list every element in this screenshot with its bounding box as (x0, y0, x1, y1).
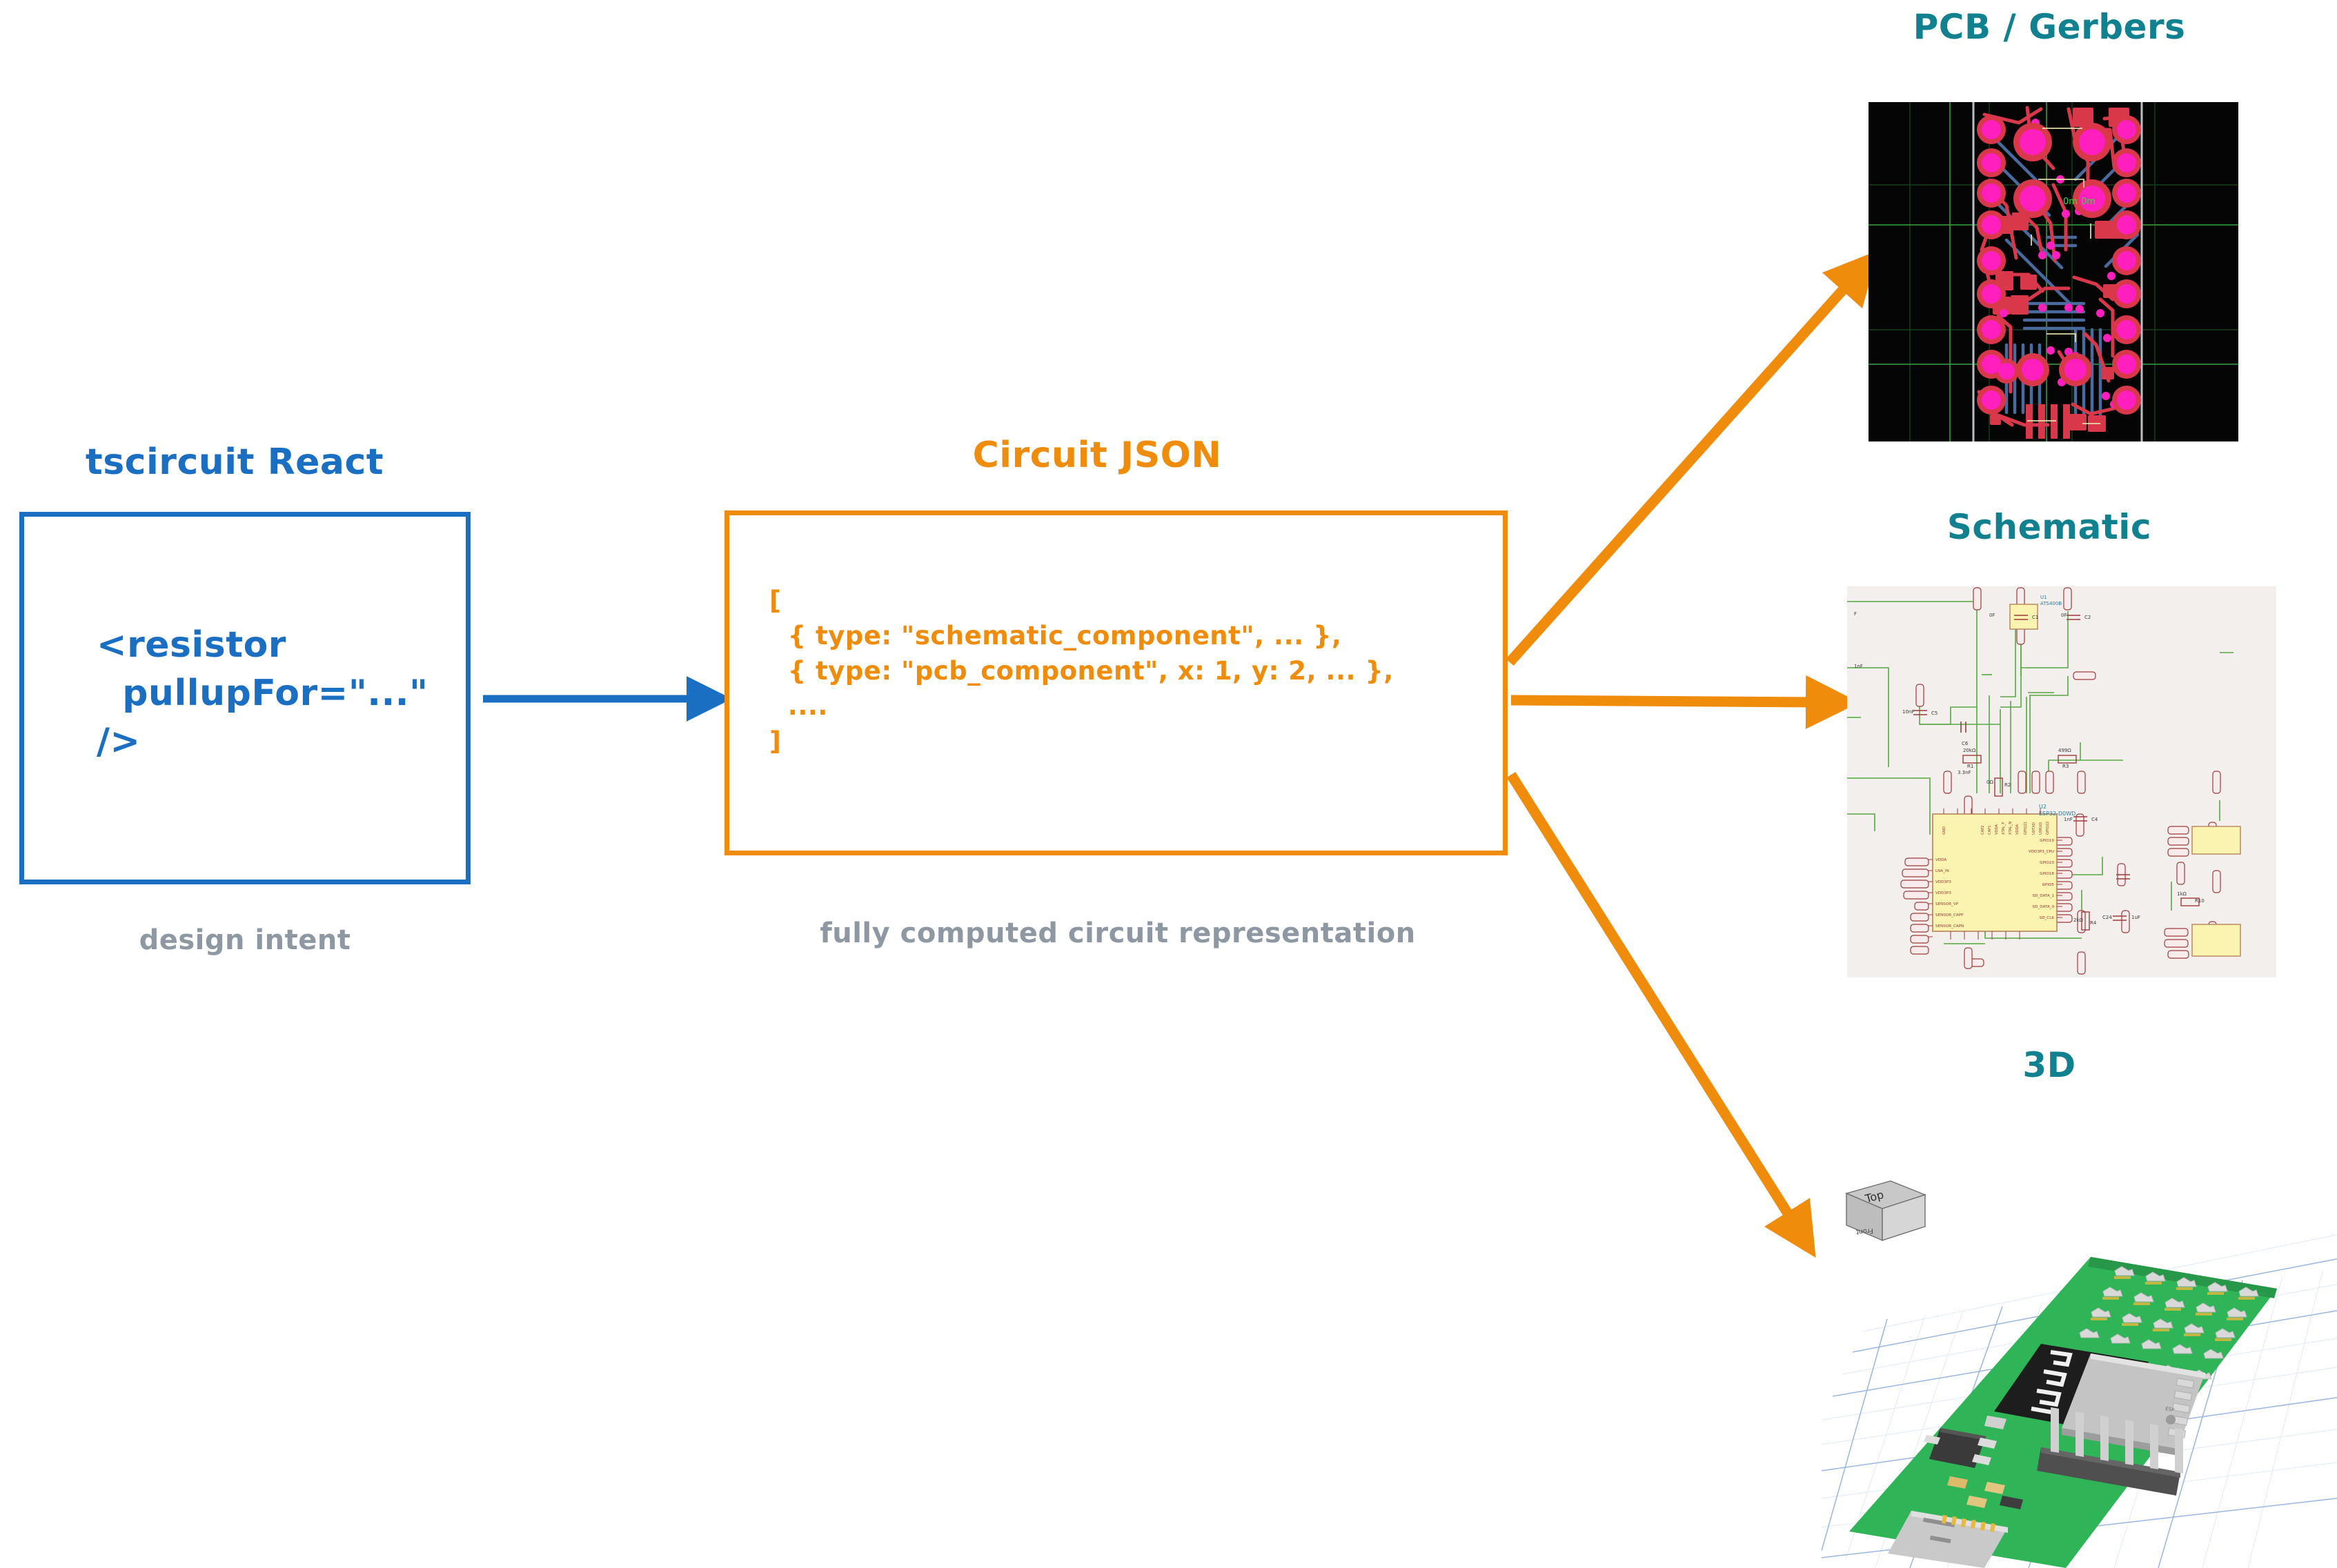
svg-text:U1: U1 (2040, 595, 2047, 600)
schematic-preview-image[interactable]: U2 ESP32-D0WD U1 ATS400B (1847, 586, 2276, 977)
svg-text:C24: C24 (2102, 915, 2112, 920)
svg-text:2kΩ: 2kΩ (2073, 917, 2084, 923)
svg-text:VDDA: VDDA (1995, 824, 1999, 835)
svg-text:0F: 0F (1989, 613, 1995, 618)
svg-text:SD_CLK: SD_CLK (2040, 916, 2055, 920)
pcb-label-0m-right: 0m (2081, 197, 2096, 207)
arrow-json-to-schematic (1511, 700, 1816, 702)
schematic-title: Schematic (1822, 507, 2277, 547)
svg-text:R2: R2 (2004, 782, 2011, 788)
svg-text:C4: C4 (2091, 817, 2098, 822)
svg-text:SENSOR_CAPP: SENSOR_CAPP (1935, 913, 1964, 917)
svg-text:SENSOR_CAPN: SENSOR_CAPN (1935, 924, 1964, 929)
pcb-gerbers-title: PCB / Gerbers (1822, 7, 2277, 47)
svg-text:C1: C1 (2032, 615, 2038, 620)
svg-text:VDDA: VDDA (2015, 824, 2020, 835)
arrow-json-to-3d (1511, 775, 1793, 1221)
svg-text:3.3nF: 3.3nF (1958, 770, 1971, 775)
svg-text:SD_DATA_0: SD_DATA_0 (2033, 905, 2055, 909)
pcb-label-0m-left: 0m (2063, 197, 2078, 207)
svg-text:C2: C2 (2084, 615, 2091, 620)
svg-text:SENSOR_VP: SENSOR_VP (1935, 902, 1959, 906)
net-label-gnd (1973, 588, 1981, 610)
three-d-preview-image[interactable]: Top Front (1822, 1104, 2337, 1568)
arrow-json-to-pcb (1510, 283, 1849, 662)
svg-text:CAP1: CAP1 (1988, 825, 1992, 835)
svg-text:0Ω: 0Ω (1986, 780, 1993, 785)
svg-text:VDD3P3: VDD3P3 (1935, 891, 1951, 895)
svg-text:F: F (1854, 611, 1857, 617)
svg-text:1nF: 1nF (1854, 664, 1863, 669)
svg-text:GPIO23: GPIO23 (2040, 861, 2054, 865)
svg-text:ESP32-D0WD: ESP32-D0WD (2039, 811, 2075, 817)
svg-text:GND: GND (1942, 826, 1946, 835)
svg-text:XTAL_N: XTAL_N (2009, 822, 2013, 835)
svg-text:VDDA: VDDA (1935, 858, 1946, 862)
svg-text:ATS400B: ATS400B (2040, 601, 2062, 606)
three-d-title: 3D (1822, 1045, 2277, 1085)
svg-text:VDD3P3: VDD3P3 (1935, 880, 1951, 884)
svg-text:R4: R4 (2090, 920, 2097, 926)
svg-text:GPIO19: GPIO19 (2040, 839, 2054, 843)
svg-text:GPIO22: GPIO22 (2046, 822, 2050, 835)
tscircuit-react-code-snippet: <resistor pullupFor="..." /> (97, 621, 455, 766)
svg-text:GPIO21: GPIO21 (2024, 822, 2028, 835)
svg-text:U0TXD: U0TXD (2032, 822, 2036, 835)
svg-text:1nF: 1nF (2064, 817, 2073, 822)
svg-text:1kΩ: 1kΩ (2177, 891, 2187, 897)
svg-text:20kΩ: 20kΩ (1963, 748, 1976, 753)
svg-text:GPIO18: GPIO18 (2040, 872, 2054, 876)
svg-text:R10: R10 (2195, 898, 2205, 904)
design-intent-caption: design intent (41, 924, 448, 956)
svg-text:R3: R3 (2062, 764, 2069, 769)
svg-text:10nF: 10nF (1902, 709, 1914, 715)
svg-text:GPIO5: GPIO5 (2042, 883, 2055, 887)
tscircuit-react-title: tscircuit React (83, 441, 386, 483)
svg-text:R1: R1 (1967, 764, 1973, 769)
svg-text:VDD3P3_CPU: VDD3P3_CPU (2029, 850, 2054, 854)
circuit-json-code-snippet: [ { type: "schematic_component", ... }, … (769, 583, 1501, 759)
svg-text:C5: C5 (1931, 711, 1937, 716)
svg-text:C6: C6 (1962, 741, 1969, 746)
circuit-json-title: Circuit JSON (862, 435, 1332, 476)
svg-text:499Ω: 499Ω (2058, 748, 2071, 753)
svg-text:U0RXD: U0RXD (2039, 822, 2043, 835)
pcb-preview-image[interactable]: 0m 0m (1868, 102, 2238, 441)
svg-text:Front: Front (1855, 1227, 1873, 1235)
svg-text:CAP2: CAP2 (1981, 825, 1985, 835)
svg-text:XTAL_P: XTAL_P (2002, 822, 2006, 835)
svg-text:0F: 0F (2061, 613, 2067, 618)
svg-text:1uF: 1uF (2131, 915, 2140, 920)
circuit-json-caption: fully computed circuit representation (742, 917, 1494, 949)
svg-text:LNA_IN: LNA_IN (1935, 869, 1949, 873)
svg-text:SD_DATA_1: SD_DATA_1 (2033, 894, 2055, 898)
